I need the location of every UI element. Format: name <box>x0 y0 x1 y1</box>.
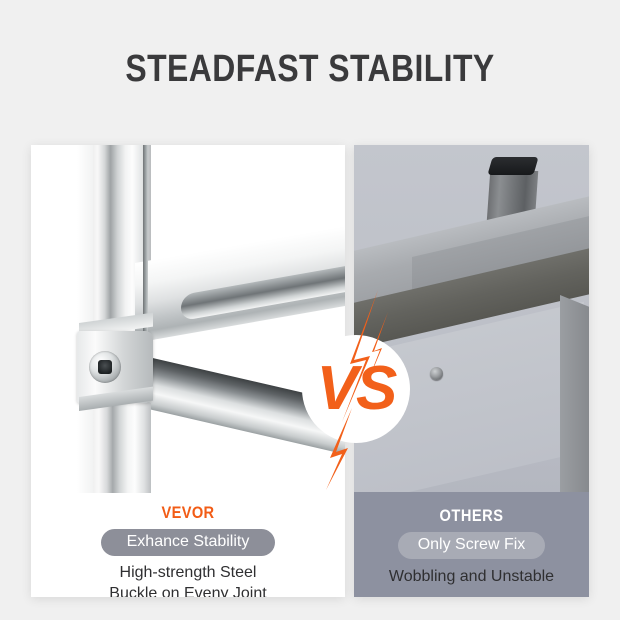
vevor-description-line-2: Buckle on Eveny Joint <box>31 583 345 597</box>
vevor-product-panel: VEVOR Exhance Stability High-strength St… <box>31 145 345 597</box>
others-description: Wobbling and Unstable <box>354 566 589 587</box>
hex-socket-icon <box>98 360 112 374</box>
steel-cross-brace <box>131 361 345 463</box>
others-product-image <box>354 145 589 493</box>
others-brand-label: OTHERS <box>370 506 572 526</box>
steel-post-lower <box>93 403 151 493</box>
grey-shelf-side-strip <box>560 295 589 493</box>
others-product-panel: OTHERS Only Screw Fix Wobbling and Unsta… <box>354 145 589 597</box>
vevor-product-image <box>31 145 345 493</box>
black-leg-cap-icon <box>487 157 538 175</box>
others-footer: OTHERS Only Screw Fix Wobbling and Unsta… <box>354 492 589 597</box>
page-title: STEADFAST STABILITY <box>50 48 571 91</box>
steel-post-shadow <box>77 145 94 493</box>
vevor-feature-pill: Exhance Stability <box>101 529 276 556</box>
vevor-brand-label: VEVOR <box>53 503 323 523</box>
comparison-stage: VEVOR Exhance Stability High-strength St… <box>31 145 589 597</box>
vevor-footer: VEVOR Exhance Stability High-strength St… <box>31 493 345 597</box>
others-feature-pill: Only Screw Fix <box>398 532 546 559</box>
vevor-description-line-1: High-strength Steel <box>31 562 345 583</box>
screw-icon <box>430 367 443 380</box>
vevor-description: High-strength Steel Buckle on Eveny Join… <box>31 562 345 597</box>
